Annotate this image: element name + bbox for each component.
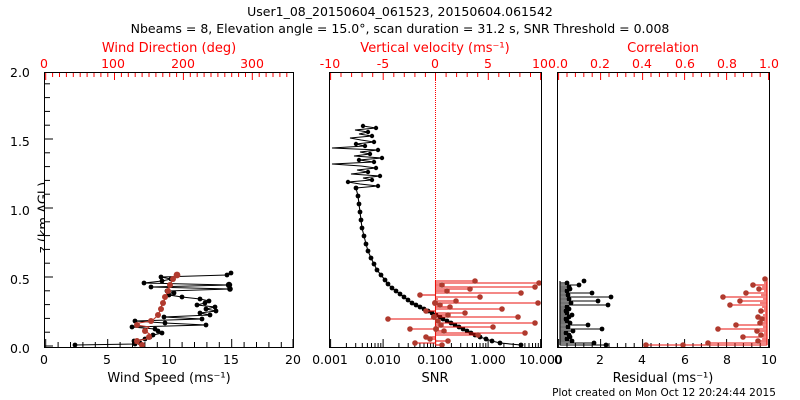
panel1-top-tick-0: 0 xyxy=(40,56,48,71)
panel2-top-tick-4: 10 xyxy=(532,56,548,71)
snr-panel[interactable] xyxy=(329,72,542,348)
panel3-top-tick-4: 0.8 xyxy=(717,56,737,71)
panel3-top-axis-label: Correlation xyxy=(627,41,699,56)
panel1-bottom-tick-2: 10 xyxy=(161,352,177,367)
panel3-top-tick-1: 0.2 xyxy=(590,56,610,71)
panel2-bottom-tick-2: 0.100 xyxy=(417,352,453,367)
plot-created-footer: Plot created on Mon Oct 12 20:24:44 2015 xyxy=(552,387,776,399)
y-tick-4: 2.0 xyxy=(10,65,30,80)
panel2-data-layer xyxy=(330,73,541,347)
panel2-bottom-axis-label: SNR xyxy=(421,371,448,386)
panel3-bottom-tick-2: 4 xyxy=(638,352,646,367)
panel1-top-axis-label: Wind Direction (deg) xyxy=(102,41,236,56)
figure-title: User1_08_20150604_061523, 20150604.06154… xyxy=(247,4,553,19)
panel1-top-tick-2: 200 xyxy=(171,56,195,71)
panel2-top-tick-3: 5 xyxy=(484,56,492,71)
panel3-top-tick-5: 1.0 xyxy=(759,56,779,71)
panel2-top-tick-2: 0 xyxy=(431,56,439,71)
panel1-bottom-tick-3: 15 xyxy=(223,352,239,367)
panel1-top-tick-3: 300 xyxy=(240,56,264,71)
panel3-bottom-axis-label: Residual (ms⁻¹) xyxy=(613,371,714,386)
panel1-top-tick-1: 100 xyxy=(101,56,125,71)
panel2-bottom-tick-3: 1.000 xyxy=(470,352,506,367)
panel3-bottom-tick-1: 2 xyxy=(596,352,604,367)
panel3-top-tick-0: 0.0 xyxy=(548,56,568,71)
panel2-bottom-tick-1: 0.010 xyxy=(365,352,401,367)
panel2-bottom-tick-0: 0.001 xyxy=(312,352,348,367)
panel3-data-layer xyxy=(558,73,769,347)
panel1-bottom-axis-label: Wind Speed (ms⁻¹) xyxy=(107,371,230,386)
panel2-top-tick-0: -10 xyxy=(320,56,340,71)
panel1-bottom-tick-0: 0 xyxy=(40,352,48,367)
y-tick-2: 1.0 xyxy=(10,203,30,218)
panel1-bottom-tick-1: 5 xyxy=(103,352,111,367)
panel3-top-tick-2: 0.4 xyxy=(632,56,652,71)
panel3-bottom-tick-3: 6 xyxy=(681,352,689,367)
figure-canvas: User1_08_20150604_061523, 20150604.06154… xyxy=(0,0,800,400)
panel1-data-layer xyxy=(45,73,293,347)
panel3-bottom-tick-4: 8 xyxy=(723,352,731,367)
wind-speed-panel[interactable] xyxy=(44,72,294,348)
residual-panel[interactable] xyxy=(557,72,770,348)
y-tick-3: 1.5 xyxy=(10,134,30,149)
panel2-top-tick-1: -5 xyxy=(377,56,389,71)
panel3-bottom-tick-0: 0 xyxy=(554,352,562,367)
panel3-bottom-tick-5: 10 xyxy=(761,352,777,367)
y-tick-1: 0.5 xyxy=(10,272,30,287)
panel2-top-axis-label: Vertical velocity (ms⁻¹) xyxy=(360,41,509,56)
y-tick-0: 0.0 xyxy=(10,341,30,356)
panel1-bottom-tick-4: 20 xyxy=(285,352,301,367)
panel3-top-tick-3: 0.6 xyxy=(675,56,695,71)
figure-subtitle: Nbeams = 8, Elevation angle = 15.0°, sca… xyxy=(131,21,670,36)
